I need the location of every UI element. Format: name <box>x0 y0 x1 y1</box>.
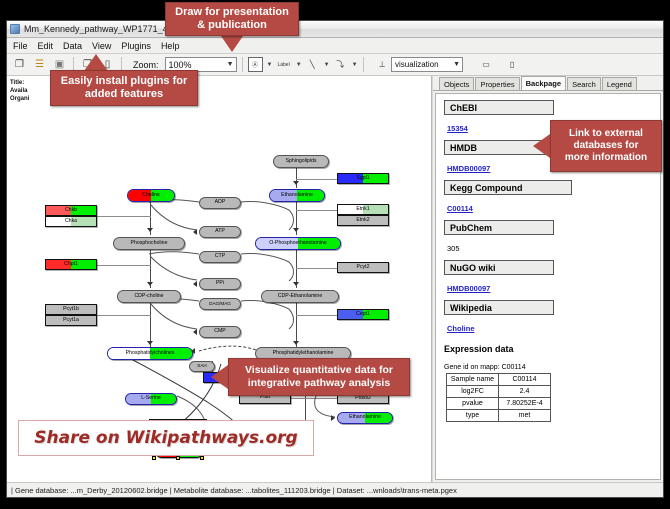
statusbar: | Gene database: ...m_Derby_20120602.bri… <box>7 482 663 497</box>
node-label: ATP <box>215 229 225 234</box>
cell-label: log2FC <box>447 386 499 398</box>
visualization-combo[interactable]: visualization ▼ <box>391 57 463 72</box>
edge-etnk-to-backbone <box>296 210 337 211</box>
chevron-down-icon[interactable]: ▼ <box>324 62 330 68</box>
callout-line-3: more information <box>565 152 647 164</box>
selection-handle-s[interactable] <box>176 456 180 460</box>
arrowhead-icon <box>193 329 197 335</box>
callout-arrow-up <box>84 54 108 71</box>
window-titlebar: Mm_Kennedy_pathway_WP1771_45176.gpml <box>7 21 663 38</box>
node-o-phosphoethanolamine[interactable]: O-Phosphoethanolamine <box>255 237 341 250</box>
db-header-wikipedia: Wikipedia <box>444 300 554 315</box>
node-ethanolamine-top[interactable]: Ethanolamine <box>269 189 325 202</box>
edge-pcyt1-to-backbone <box>97 315 151 316</box>
node-cdp-choline[interactable]: CDP-choline <box>117 290 181 303</box>
callout-external-databases: Link to external databases for more info… <box>550 120 662 172</box>
callout-line-1: Link to external <box>569 128 643 140</box>
chevron-down-icon: ▼ <box>453 61 460 68</box>
db-header-nugo-wiki: NuGO wiki <box>444 260 554 275</box>
db-link-hmdb[interactable]: HMDB00097 <box>447 164 490 173</box>
node-label: Phosphatidylcholines <box>126 351 175 356</box>
callout-visualize-data: Visualize quantitative data for integrat… <box>228 358 410 396</box>
node-phosphatidylcholines[interactable]: Phosphatidylcholines <box>107 347 193 360</box>
expression-table: Sample name C00114 log2FC 2.4 pvalue 7.8… <box>446 373 551 422</box>
node-dag-mag[interactable]: DAG/MAG <box>199 298 241 310</box>
gene-label: Chkb <box>65 208 77 213</box>
node-atp[interactable]: ATP <box>199 226 241 238</box>
table-row: pvalue 7.80252E-4 <box>447 398 551 410</box>
curve-ctp-ppi-right <box>239 248 299 288</box>
gene-id-line: Gene id on mapp: C00114 <box>444 364 660 371</box>
width-tool[interactable]: ▭ <box>479 57 494 72</box>
statusbar-text: | Gene database: ...m_Derby_20120602.bri… <box>11 486 457 495</box>
edge-sphingolipids-to-ethanolamine <box>296 168 297 188</box>
gene-etnk2[interactable]: Etnk2 <box>337 215 389 226</box>
table-row: type met <box>447 410 551 422</box>
node-choline-top[interactable]: Choline <box>127 189 175 202</box>
db-link-nugo-wiki[interactable]: HMDB00097 <box>447 284 490 293</box>
node-label: Phosphatidylethanolamine <box>273 351 334 356</box>
node-label: L-Serine <box>141 396 161 401</box>
node-cdp-ethanolamine[interactable]: CDP-Ethanolamine <box>261 290 339 303</box>
db-value-pubchem: 305 <box>447 244 460 253</box>
label-tool[interactable]: Label <box>275 57 291 72</box>
node-label: Ethanolamine <box>281 193 313 198</box>
height-tool[interactable]: ▯ <box>505 57 520 72</box>
menu-edit[interactable]: Edit <box>38 41 60 51</box>
arrowhead-icon <box>147 282 153 286</box>
zoom-label: Zoom: <box>133 60 159 70</box>
node-label: O-Phosphoethanolamine <box>269 241 326 246</box>
cell-value: 2.4 <box>499 386 551 398</box>
node-label: CDP-choline <box>134 294 163 299</box>
arrowhead-icon <box>293 341 299 345</box>
gene-label: Pisd <box>260 395 270 400</box>
db-link-chebi[interactable]: 15354 <box>447 124 468 133</box>
tab-search[interactable]: Search <box>567 77 601 90</box>
gene-chpt1[interactable]: Chpt1 <box>45 259 97 270</box>
gene-cept1[interactable]: Cept1 <box>337 309 389 320</box>
cell-value: met <box>499 410 551 422</box>
db-link-kegg-compound[interactable]: C00114 <box>447 204 473 213</box>
menu-plugins[interactable]: Plugins <box>121 41 157 51</box>
align-top-tool[interactable]: ⊥ <box>375 57 390 72</box>
table-row: log2FC 2.4 <box>447 386 551 398</box>
callout-line-1: Easily install plugins for <box>61 75 188 88</box>
table-row: Sample name C00114 <box>447 374 551 386</box>
callout-line-1: Draw for presentation <box>175 6 289 19</box>
new-file-icon[interactable]: ❐ <box>11 56 28 73</box>
callout-arrow-left <box>211 365 228 389</box>
node-ppi[interactable]: PPi <box>199 278 241 290</box>
gene-label: Chka <box>65 219 77 224</box>
node-label: PPi <box>216 281 224 286</box>
chevron-down-icon[interactable]: ▼ <box>296 62 302 68</box>
arrowhead-icon <box>147 341 153 345</box>
tab-objects[interactable]: Objects <box>439 77 474 90</box>
chevron-down-icon: ▼ <box>227 61 234 68</box>
arrowhead-icon <box>193 229 197 235</box>
gene-label: Cept1 <box>356 312 370 317</box>
arrowhead-icon <box>293 282 299 286</box>
app-icon <box>10 24 20 34</box>
gene-label: Ptdss2 <box>355 396 371 401</box>
toolbar-separator-4 <box>363 57 364 72</box>
visualization-value: visualization <box>395 60 439 69</box>
gene-sgpl1[interactable]: Sgpl1 <box>337 173 389 184</box>
arrowhead-icon <box>193 281 197 287</box>
node-label: CTP <box>215 254 225 259</box>
cell-label: type <box>447 410 499 422</box>
gene-label: Pcyt2 <box>357 265 370 270</box>
arrowhead-icon <box>331 415 335 421</box>
gene-label: Chpt1 <box>64 262 78 267</box>
gene-label: Pcyt1b <box>63 307 79 312</box>
cell-label: Sample name <box>447 374 499 386</box>
line-tool[interactable]: ╲ <box>305 57 320 72</box>
callout-line-2: databases for <box>573 140 638 152</box>
node-label: Ethanolamine <box>349 415 381 420</box>
gene-pcyt2[interactable]: Pcyt2 <box>337 262 389 273</box>
gene-pcyt1a[interactable]: Pcyt1a <box>45 315 97 326</box>
expression-data-title: Expression data <box>444 344 660 354</box>
node-label: SAH <box>197 364 206 369</box>
node-label: CMP <box>214 329 226 334</box>
toolbar-separator-3 <box>242 57 243 72</box>
tab-backpage[interactable]: Backpage <box>521 76 566 90</box>
cell-value: C00114 <box>499 374 551 386</box>
node-ethanolamine-bottom[interactable]: Ethanolamine <box>337 412 393 424</box>
menu-file[interactable]: File <box>13 41 34 51</box>
tab-properties[interactable]: Properties <box>475 77 519 90</box>
callout-share: Share on Wikipathways.org <box>18 420 314 456</box>
selection-handle-se[interactable] <box>200 456 204 460</box>
cell-label: pvalue <box>447 398 499 410</box>
share-text: Share on Wikipathways.org <box>34 428 297 448</box>
datanode-tool[interactable]: Ⓐ <box>248 57 263 72</box>
cell-value: 7.80252E-4 <box>499 398 551 410</box>
node-label: ADP <box>215 200 226 205</box>
menu-view[interactable]: View <box>92 41 117 51</box>
edge-cept1-to-backbone <box>296 315 337 316</box>
node-label: Phosphocholine <box>131 241 168 246</box>
zoom-value: 100% <box>169 60 192 70</box>
menu-help[interactable]: Help <box>161 41 186 51</box>
edge-chpt1-to-backbone <box>97 265 151 266</box>
gene-label: Sgpl1 <box>356 176 369 181</box>
node-l-serine-left[interactable]: L-Serine <box>125 393 177 405</box>
db-header-kegg-compound: Kegg Compound <box>444 180 572 195</box>
node-phosphocholine[interactable]: Phosphocholine <box>113 237 185 250</box>
gene-pcyt1b[interactable]: Pcyt1b <box>45 304 97 315</box>
node-label: Sphingolipids <box>286 159 317 164</box>
chevron-down-icon[interactable]: ▼ <box>352 62 358 68</box>
chevron-down-icon[interactable]: ▼ <box>267 62 273 68</box>
db-link-wikipedia[interactable]: Choline <box>447 324 475 333</box>
callout-line-2: integrative pathway analysis <box>248 377 390 390</box>
gene-chkb[interactable]: Chkb <box>45 205 97 216</box>
open-file-icon[interactable]: ☰ <box>31 56 48 73</box>
callout-install-plugins: Easily install plugins for added feature… <box>50 70 198 106</box>
tab-legend[interactable]: Legend <box>602 77 637 90</box>
interaction-tool[interactable]: ⤵ <box>333 57 348 72</box>
screenshot-root: Mm_Kennedy_pathway_WP1771_45176.gpml Fil… <box>0 0 670 509</box>
db-header-chebi: ChEBI <box>444 100 554 115</box>
gene-label: Etnk2 <box>356 218 369 223</box>
gene-label: Pcyt1a <box>63 318 79 323</box>
arrowhead-icon <box>147 228 153 232</box>
menubar: File Edit Data View Plugins Help <box>7 38 663 54</box>
gene-etnk1[interactable]: Etnk1 <box>337 204 389 215</box>
node-label: DAG/MAG <box>209 302 231 307</box>
callout-line-2: & publication <box>197 19 267 32</box>
gene-label: Etnk1 <box>356 207 369 212</box>
node-ctp[interactable]: CTP <box>199 251 241 263</box>
gene-chka[interactable]: Chka <box>45 216 97 227</box>
side-panel-tabs: Objects Properties Backpage Search Legen… <box>433 76 663 91</box>
arrowhead-icon <box>293 181 299 185</box>
menu-data[interactable]: Data <box>63 41 88 51</box>
node-sphingolipids[interactable]: Sphingolipids <box>273 155 329 168</box>
node-label: Choline <box>142 193 160 198</box>
node-adp[interactable]: ADP <box>199 197 241 209</box>
edge-chk-to-backbone <box>97 216 151 217</box>
edge-pcyt2-to-backbone <box>296 268 337 269</box>
selection-handle-sw[interactable] <box>152 456 156 460</box>
callout-draw-publication: Draw for presentation & publication <box>165 2 299 36</box>
node-cmp[interactable]: CMP <box>199 326 241 338</box>
callout-line-1: Visualize quantitative data for <box>245 364 393 377</box>
node-label: CDP-Ethanolamine <box>278 294 322 299</box>
db-header-pubchem: PubChem <box>444 220 554 235</box>
callout-arrow-down <box>221 36 243 52</box>
callout-line-2: added features <box>85 88 163 101</box>
edge-sgpl1-to-backbone <box>296 179 337 180</box>
callout-arrow-left <box>533 134 550 158</box>
arrowhead-icon <box>293 228 299 232</box>
